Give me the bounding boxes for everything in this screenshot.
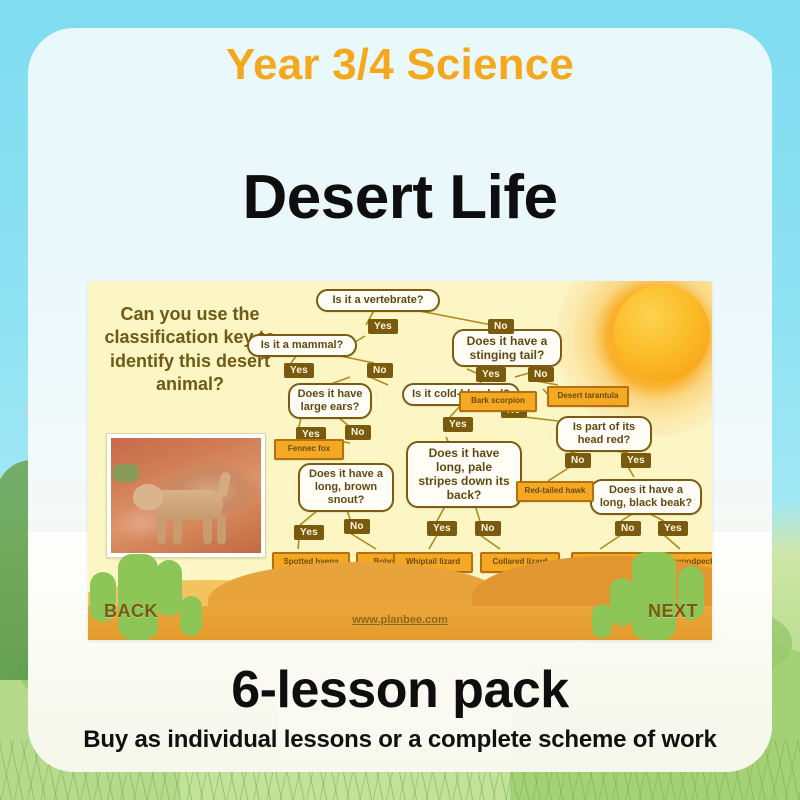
tree-edge (480, 535, 500, 549)
tree-branch-label: No (367, 363, 393, 378)
back-button[interactable]: BACK (104, 601, 158, 622)
tree-edge (429, 535, 437, 549)
tree-branch-label: Yes (443, 417, 473, 432)
website-link[interactable]: www.planbee.com (352, 614, 448, 626)
next-button[interactable]: NEXT (648, 601, 698, 622)
tree-question-node[interactable]: Is it a vertebrate? (316, 289, 440, 312)
tree-edge (548, 467, 570, 481)
tree-branch-label: Yes (658, 521, 688, 536)
tree-edge (298, 539, 299, 549)
pack-title: 6-lesson pack (0, 660, 800, 720)
tree-question-node[interactable]: Does it have a long, brown snout? (298, 463, 394, 512)
tree-branch-label: No (345, 425, 371, 440)
tree-question-node[interactable]: Is part of its head red? (556, 416, 652, 452)
tree-branch-label: No (488, 319, 514, 334)
tree-branch-label: Yes (427, 521, 457, 536)
tree-branch-label: Yes (294, 525, 324, 540)
tree-answer-node[interactable]: Red-tailed hawk (516, 481, 594, 502)
tree-edge (350, 533, 376, 549)
tree-question-node[interactable]: Is it a mammal? (247, 334, 357, 357)
tree-edge (628, 467, 634, 477)
page-title: Desert Life (0, 162, 800, 233)
tree-branch-label: No (565, 453, 591, 468)
cactus-icon (582, 550, 712, 640)
cactus-icon (88, 550, 218, 640)
tree-branch-label: No (344, 519, 370, 534)
tree-branch-label: Yes (476, 367, 506, 382)
tree-question-node[interactable]: Does it have a stinging tail? (452, 329, 562, 367)
tree-branch-label: No (475, 521, 501, 536)
tree-question-node[interactable]: Does it have large ears? (288, 383, 372, 419)
tree-answer-node[interactable]: Fennec fox (274, 439, 344, 460)
tree-question-node[interactable]: Does it have a long, black beak? (590, 479, 702, 515)
slide-preview[interactable]: Can you use the classification key to id… (88, 281, 712, 640)
tree-branch-label: No (615, 521, 641, 536)
tree-edge (664, 535, 680, 549)
tree-branch-label: Yes (621, 453, 651, 468)
tree-branch-label: Yes (284, 363, 314, 378)
subject-eyebrow: Year 3/4 Science (0, 40, 800, 90)
pack-subtitle: Buy as individual lessons or a complete … (0, 726, 800, 754)
tree-answer-node[interactable]: Desert tarantula (547, 386, 629, 407)
promo-page: Year 3/4 Science Desert Life Can you use… (0, 0, 800, 800)
tree-branch-label: Yes (368, 319, 398, 334)
tree-question-node[interactable]: Does it have long, pale stripes down its… (406, 441, 522, 508)
tree-answer-node[interactable]: Bark scorpion (459, 391, 537, 412)
tree-branch-label: No (528, 367, 554, 382)
tree-edge (600, 535, 621, 549)
tree-edge (370, 377, 388, 385)
